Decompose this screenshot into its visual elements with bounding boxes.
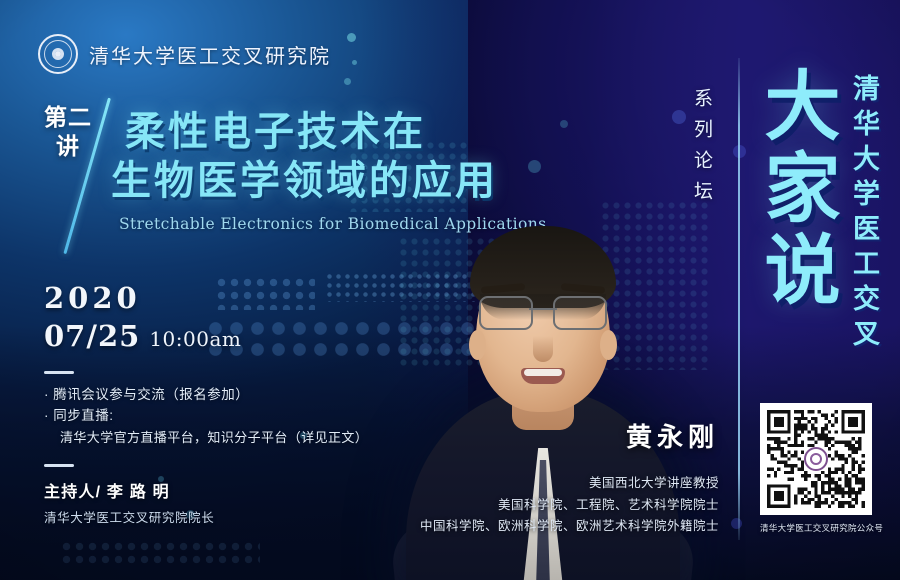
portrait-lens-right	[553, 296, 607, 330]
qr-center-seal-icon	[804, 447, 828, 471]
org-name: 清华大学医工交叉研究院	[89, 40, 331, 69]
info-item-2: · 同步直播:	[44, 406, 374, 427]
portrait-mouth	[521, 368, 565, 384]
qr-code-image[interactable]	[760, 403, 872, 515]
portrait-nose	[533, 336, 553, 362]
date-time: 10:00am	[149, 327, 241, 351]
vertical-divider-line	[738, 58, 740, 540]
portrait-ear-right	[600, 330, 617, 360]
portrait-ear-left	[469, 330, 486, 360]
host-block: 主持人/ 李 路 明 清华大学医工交叉研究院院长	[44, 478, 214, 526]
series-label-vertical: 系列论坛	[688, 88, 715, 212]
info-block: · 腾讯会议参与交流（报名参加） · 同步直播: 清华大学官方直播平台，知识分子…	[44, 385, 374, 446]
brand-label-vertical: 清华大学医工交叉	[845, 74, 884, 354]
big-word-vertical: 大家说	[755, 66, 836, 312]
date-block: 2020 07/25 10:00am	[44, 281, 241, 353]
divider-rule-info	[44, 371, 74, 374]
speaker-credential-1: 美国西北大学讲座教授	[420, 472, 719, 494]
info-item-2-sub: 清华大学官方直播平台，知识分子平台（详见正文）	[44, 427, 374, 446]
speaker-name: 黄永刚	[626, 417, 719, 454]
tsinghua-seal-icon	[38, 34, 78, 74]
date-row: 07/25 10:00am	[44, 319, 241, 353]
speaker-credential-3: 中国科学院、欧洲科学院、欧洲艺术科学院外籍院士	[420, 515, 719, 537]
poster-canvas: 清华大学医工交叉研究院 第二讲 柔性电子技术在 生物医学领域的应用 Stretc…	[0, 0, 900, 580]
speaker-credential-2: 美国科学院、工程院、艺术科学院院士	[420, 494, 719, 516]
host-role: 清华大学医工交叉研究院院长	[44, 507, 214, 526]
qr-caption: 清华大学医工交叉研究院公众号	[760, 522, 872, 534]
qr-code-block[interactable]: 清华大学医工交叉研究院公众号	[760, 403, 872, 534]
portrait-lens-left	[479, 296, 533, 330]
divider-rule-host	[44, 464, 74, 467]
portrait-glasses-bridge	[529, 308, 557, 310]
portrait-glasses	[479, 296, 607, 330]
date-day: 07/25	[44, 319, 140, 353]
host-name: 主持人/ 李 路 明	[44, 478, 214, 502]
lecture-number-badge: 第二讲	[42, 104, 94, 163]
date-year: 2020	[44, 281, 241, 315]
header-brand: 清华大学医工交叉研究院	[38, 34, 331, 74]
speaker-credentials: 美国西北大学讲座教授 美国科学院、工程院、艺术科学院院士 中国科学院、欧洲科学院…	[420, 472, 719, 537]
info-item-1: · 腾讯会议参与交流（报名参加）	[44, 385, 374, 406]
